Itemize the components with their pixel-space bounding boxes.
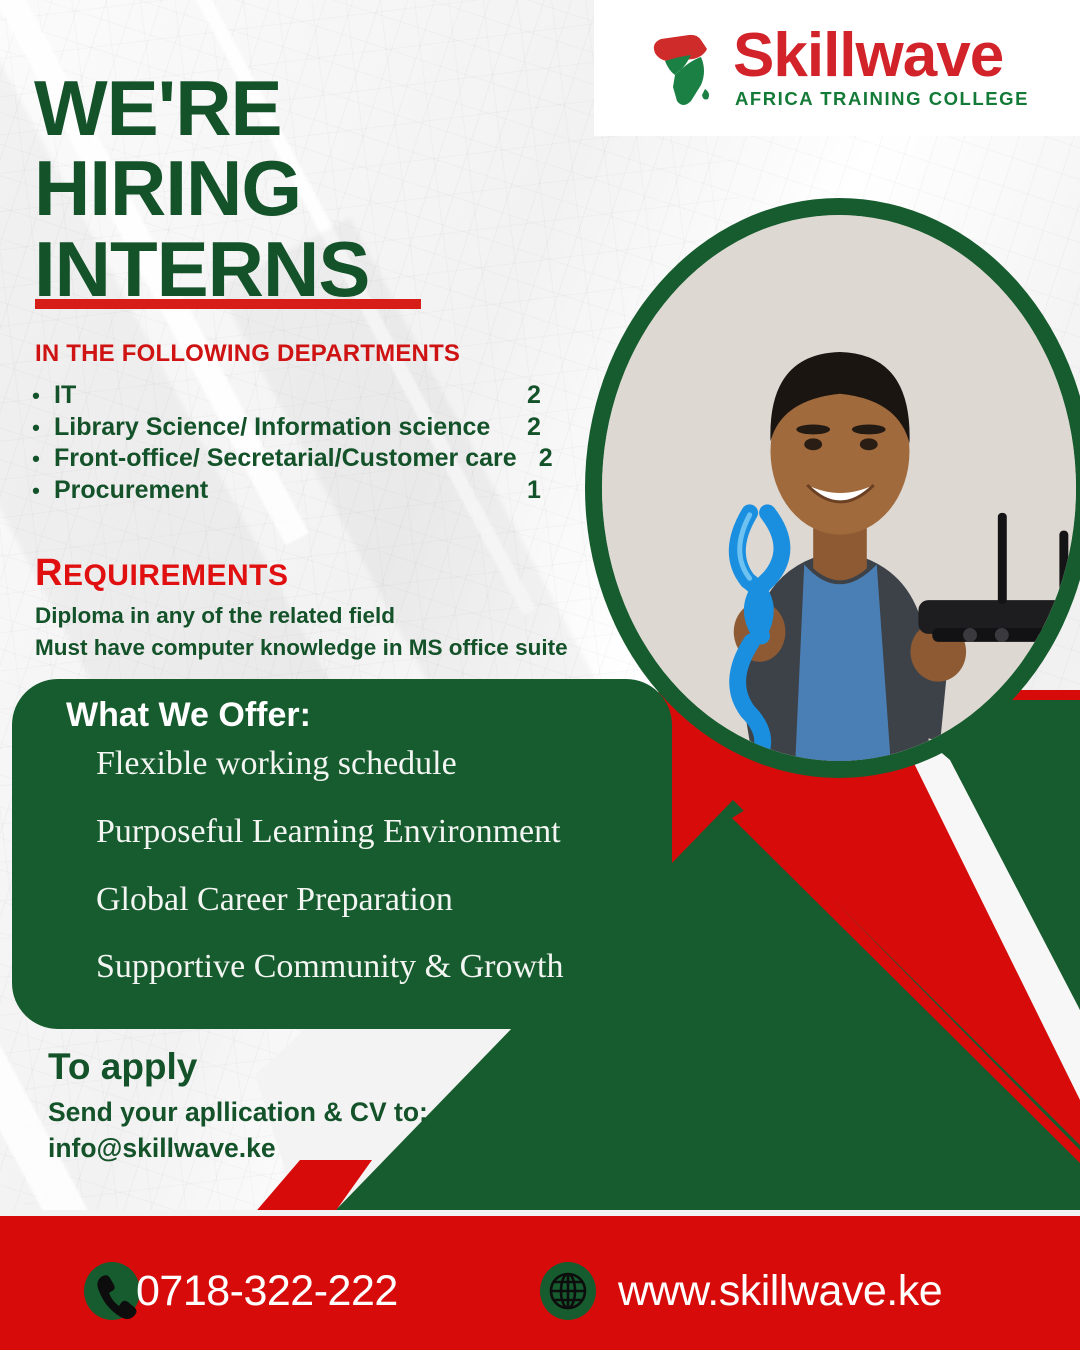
list-item: Flexible working schedule — [96, 745, 656, 784]
brand-logo[interactable]: Skillwave AFRICA TRAINING COLLEGE — [594, 0, 1080, 136]
department-count: 2 — [505, 380, 563, 412]
department-label: Procurement — [54, 475, 505, 507]
footer-phone[interactable]: 0718-322-222 — [84, 1262, 398, 1320]
logo-wordmark: Skillwave — [733, 26, 1003, 86]
department-count: 2 — [505, 412, 563, 444]
apply-heading: To apply — [48, 1046, 197, 1088]
department-count: 1 — [505, 475, 563, 507]
headline-line-1: WE'RE HIRING — [34, 68, 554, 229]
list-item: Supportive Community & Growth — [96, 948, 656, 987]
requirements-heading-rest: EQUIREMENTS — [63, 559, 289, 592]
headline-line-2: INTERNS — [34, 229, 554, 309]
footer-website-text: www.skillwave.ke — [618, 1267, 942, 1316]
department-count: 2 — [517, 443, 575, 475]
page-title: WE'RE HIRING INTERNS — [34, 68, 554, 309]
poster-canvas: Skillwave AFRICA TRAINING COLLEGE WE'RE … — [0, 0, 1080, 1350]
bullet-icon: • — [18, 477, 54, 505]
requirements-heading-cap: R — [35, 552, 63, 594]
apply-email[interactable]: info@skillwave.ke — [48, 1130, 428, 1166]
apply-body: Send your apllication & CV to: info@skil… — [48, 1094, 428, 1167]
bullet-icon: • — [18, 445, 54, 473]
offers-list: Flexible working schedule Purposeful Lea… — [96, 745, 656, 1016]
offers-heading: What We Offer: — [66, 696, 311, 735]
list-item: • Library Science/ Information science 2 — [18, 412, 563, 444]
logo-tagline: AFRICA TRAINING COLLEGE — [735, 88, 1029, 110]
requirements-body: Diploma in any of the related field Must… — [35, 600, 568, 664]
department-label: Library Science/ Information science — [54, 412, 505, 444]
departments-list: • IT 2 • Library Science/ Information sc… — [18, 380, 563, 506]
phone-icon — [84, 1262, 140, 1320]
title-underline-rule — [35, 299, 421, 309]
footer-phone-text: 0718-322-222 — [136, 1267, 398, 1316]
intern-portrait-photo — [585, 198, 1080, 778]
departments-heading: IN THE FOLLOWING DEPARTMENTS — [35, 340, 460, 368]
department-label: Front-office/ Secretarial/Customer care — [54, 443, 517, 475]
list-item: Global Career Preparation — [96, 881, 656, 920]
africa-map-icon — [645, 31, 719, 109]
apply-instruction: Send your apllication & CV to: — [48, 1094, 428, 1130]
list-item: • IT 2 — [18, 380, 563, 412]
requirements-heading: REQUIREMENTS — [35, 552, 288, 595]
list-item: • Procurement 1 — [18, 475, 563, 507]
requirement-line-1: Diploma in any of the related field — [35, 600, 568, 632]
bullet-icon: • — [18, 382, 54, 410]
bullet-icon: • — [18, 414, 54, 442]
list-item: • Front-office/ Secretarial/Customer car… — [18, 443, 563, 475]
globe-icon — [540, 1262, 596, 1320]
footer-website[interactable]: www.skillwave.ke — [540, 1262, 942, 1320]
list-item: Purposeful Learning Environment — [96, 813, 656, 852]
requirement-line-2: Must have computer knowledge in MS offic… — [35, 632, 568, 664]
department-label: IT — [54, 380, 505, 412]
